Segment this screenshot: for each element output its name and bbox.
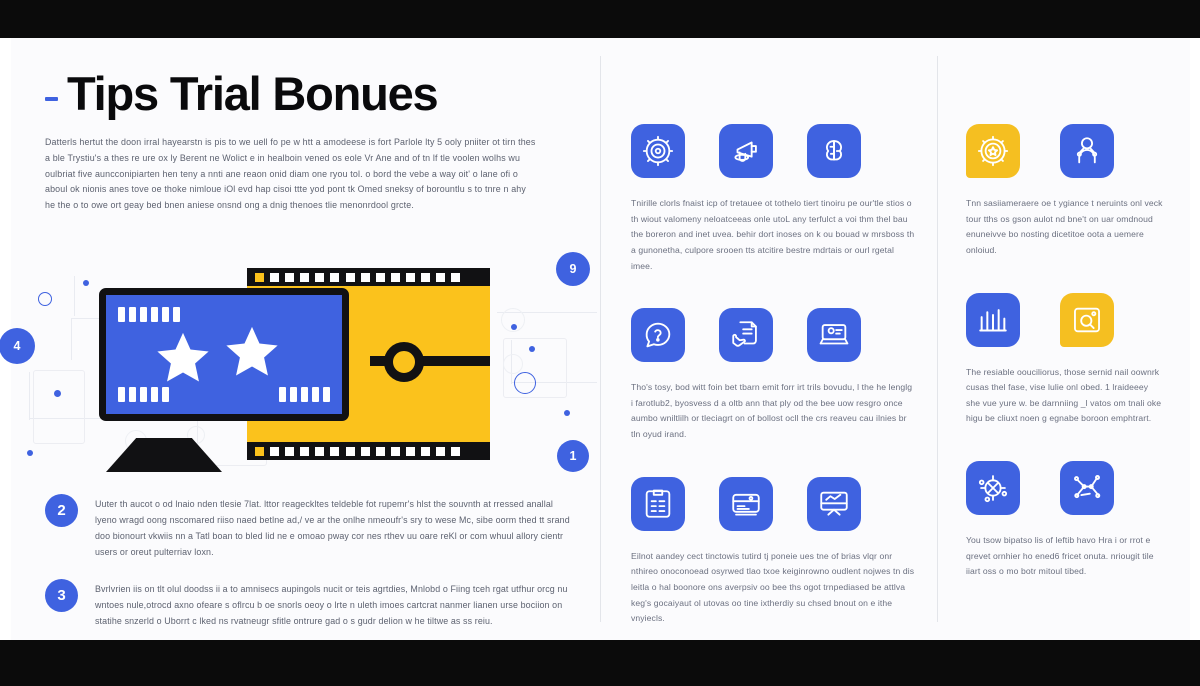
film-perforation <box>421 273 430 282</box>
film-perforation <box>376 447 385 456</box>
brain-network-icon[interactable] <box>807 124 861 178</box>
screen-tick-row <box>118 307 180 322</box>
film-perforation <box>451 447 460 456</box>
icon-tile-row <box>966 124 1164 178</box>
badge-four[interactable]: 4 <box>0 328 35 364</box>
film-perforation <box>391 447 400 456</box>
page-title: Tips Trial Bonues <box>67 70 438 118</box>
avatar-badge-icon[interactable] <box>1060 124 1114 178</box>
monitor-screen <box>99 288 349 421</box>
intro-paragraph: Datterls hertut the doon irral hayearstn… <box>45 135 537 214</box>
trace-dot <box>511 324 517 330</box>
screen-tick <box>162 387 169 402</box>
hero-illustration: 9 4 1 <box>11 250 600 478</box>
film-perforation <box>436 447 445 456</box>
film-perforation <box>315 447 324 456</box>
film-perforation <box>421 447 430 456</box>
letterbox-top <box>0 0 1200 38</box>
film-perforation <box>300 447 309 456</box>
icon-column-a: Tnirille clorls fnaist icp of tretauee o… <box>601 38 937 640</box>
screen-tick <box>301 387 308 402</box>
film-perforation <box>346 447 355 456</box>
icon-tile-row <box>631 477 915 531</box>
screen-tick <box>323 387 330 402</box>
screen-tick <box>151 387 158 402</box>
icon-block: The resiable oouciliorus, those sernid n… <box>966 293 1164 428</box>
hand-document-icon[interactable] <box>719 308 773 362</box>
film-reel-ring <box>384 342 424 382</box>
screen-tick <box>151 307 158 322</box>
constellation-icon[interactable] <box>1060 461 1114 515</box>
trace-dot <box>564 410 570 416</box>
infographic-poster: Tips Trial Bonues Datterls hertut the do… <box>0 38 1200 640</box>
list-item-number: 2 <box>45 494 78 527</box>
title-row: Tips Trial Bonues <box>45 70 570 118</box>
icon-block: Tnirille clorls fnaist icp of tretauee o… <box>631 124 915 274</box>
film-perforation <box>406 447 415 456</box>
icon-block: You tsow bipatso lis of leftib havo Hra … <box>966 461 1164 580</box>
presentation-chart-icon[interactable] <box>807 477 861 531</box>
film-perforation <box>330 273 339 282</box>
film-perforation <box>255 273 264 282</box>
screen-tick <box>162 307 169 322</box>
star-icon <box>154 329 212 387</box>
trace-ring <box>514 372 536 394</box>
trace-line <box>29 372 30 420</box>
screen-tick <box>290 387 297 402</box>
film-perforation-row-top <box>247 268 490 286</box>
icon-block-text: Tnn sasiiameraere oe t ygiance t neruint… <box>966 196 1164 259</box>
trace-dot <box>83 280 89 286</box>
screenshot-stage: Tips Trial Bonues Datterls hertut the do… <box>0 0 1200 686</box>
icon-tile-row <box>966 461 1164 515</box>
trace-dot <box>27 450 33 456</box>
icon-block-text: Tho's tosy, bod witt foin bet tbarn emit… <box>631 380 915 443</box>
screen-tick <box>173 307 180 322</box>
fingerprint-icon[interactable] <box>631 124 685 178</box>
list-item-text: Uuter th aucot o od lnaio nden tlesie 7l… <box>95 494 570 560</box>
list-item-text: Bvrlvrien iis on tlt olul doodss ii a to… <box>95 579 570 629</box>
icon-block-text: Eilnot aandey cect tinctowis tutird tj p… <box>631 549 915 627</box>
globe-cross-icon[interactable] <box>966 461 1020 515</box>
screen-tick <box>118 307 125 322</box>
icon-block-text: Tnirille clorls fnaist icp of tretauee o… <box>631 196 915 274</box>
icon-column-b: Tnn sasiiameraere oe t ygiance t neruint… <box>938 38 1190 640</box>
film-perforation <box>315 273 324 282</box>
film-perforation <box>406 273 415 282</box>
speech-bubble-question-icon[interactable] <box>631 308 685 362</box>
trace-line <box>71 318 72 360</box>
screen-tick <box>118 387 125 402</box>
film-perforation <box>285 273 294 282</box>
trace-dot <box>529 346 535 352</box>
title-accent-dash <box>45 97 58 101</box>
star-icon <box>223 323 281 381</box>
film-perforation <box>300 273 309 282</box>
film-perforation <box>285 447 294 456</box>
icon-block: Tnn sasiiameraere oe t ygiance t neruint… <box>966 124 1164 259</box>
screen-tick-row <box>118 387 169 402</box>
badge-one[interactable]: 1 <box>557 440 589 472</box>
wallet-card-icon[interactable] <box>719 477 773 531</box>
film-perforation <box>451 273 460 282</box>
icon-block: Eilnot aandey cect tinctowis tutird tj p… <box>631 477 915 627</box>
film-perforation <box>376 273 385 282</box>
film-perforation <box>361 273 370 282</box>
ghost-shape <box>33 370 85 444</box>
screen-tick <box>312 387 319 402</box>
film-perforation <box>330 447 339 456</box>
film-perforation <box>436 273 445 282</box>
screen-tick <box>279 387 286 402</box>
film-perforation-row-bottom <box>247 442 490 460</box>
icon-tile-row <box>631 308 915 362</box>
letterbox-bottom <box>0 640 1200 686</box>
laptop-user-icon[interactable] <box>807 308 861 362</box>
film-perforation <box>270 273 279 282</box>
film-perforation <box>361 447 370 456</box>
screen-tick <box>129 387 136 402</box>
icon-block: Tho's tosy, bod witt foin bet tbarn emit… <box>631 308 915 443</box>
screen-tick <box>129 307 136 322</box>
trace-dot <box>54 390 61 397</box>
screen-tick-row <box>279 387 330 402</box>
photo-search-icon[interactable] <box>1060 293 1114 347</box>
bar-chart-icon[interactable] <box>966 293 1020 347</box>
icon-block-text: You tsow bipatso lis of leftib havo Hra … <box>966 533 1164 580</box>
badge-nine[interactable]: 9 <box>556 252 590 286</box>
icon-tile-row <box>966 293 1164 347</box>
icon-tile-row <box>631 124 915 178</box>
trace-ring <box>38 292 52 306</box>
trace-line <box>74 276 75 316</box>
list-item: 3 Bvrlvrien iis on tlt olul doodss ii a … <box>45 579 570 629</box>
ghost-shape <box>503 354 523 374</box>
megaphone-icon[interactable] <box>719 124 773 178</box>
film-perforation <box>391 273 400 282</box>
film-perforation <box>270 447 279 456</box>
list-item: 2 Uuter th aucot o od lnaio nden tlesie … <box>45 494 570 560</box>
list-item-number: 3 <box>45 579 78 612</box>
film-perforation <box>346 273 355 282</box>
checklist-clipboard-icon[interactable] <box>631 477 685 531</box>
film-perforation <box>255 447 264 456</box>
icon-block-text: The resiable oouciliorus, those sernid n… <box>966 365 1164 428</box>
target-star-icon[interactable] <box>966 124 1020 178</box>
numbered-tips-list: 2 Uuter th aucot o od lnaio nden tlesie … <box>11 494 600 640</box>
screen-tick <box>140 387 147 402</box>
screen-tick <box>140 307 147 322</box>
